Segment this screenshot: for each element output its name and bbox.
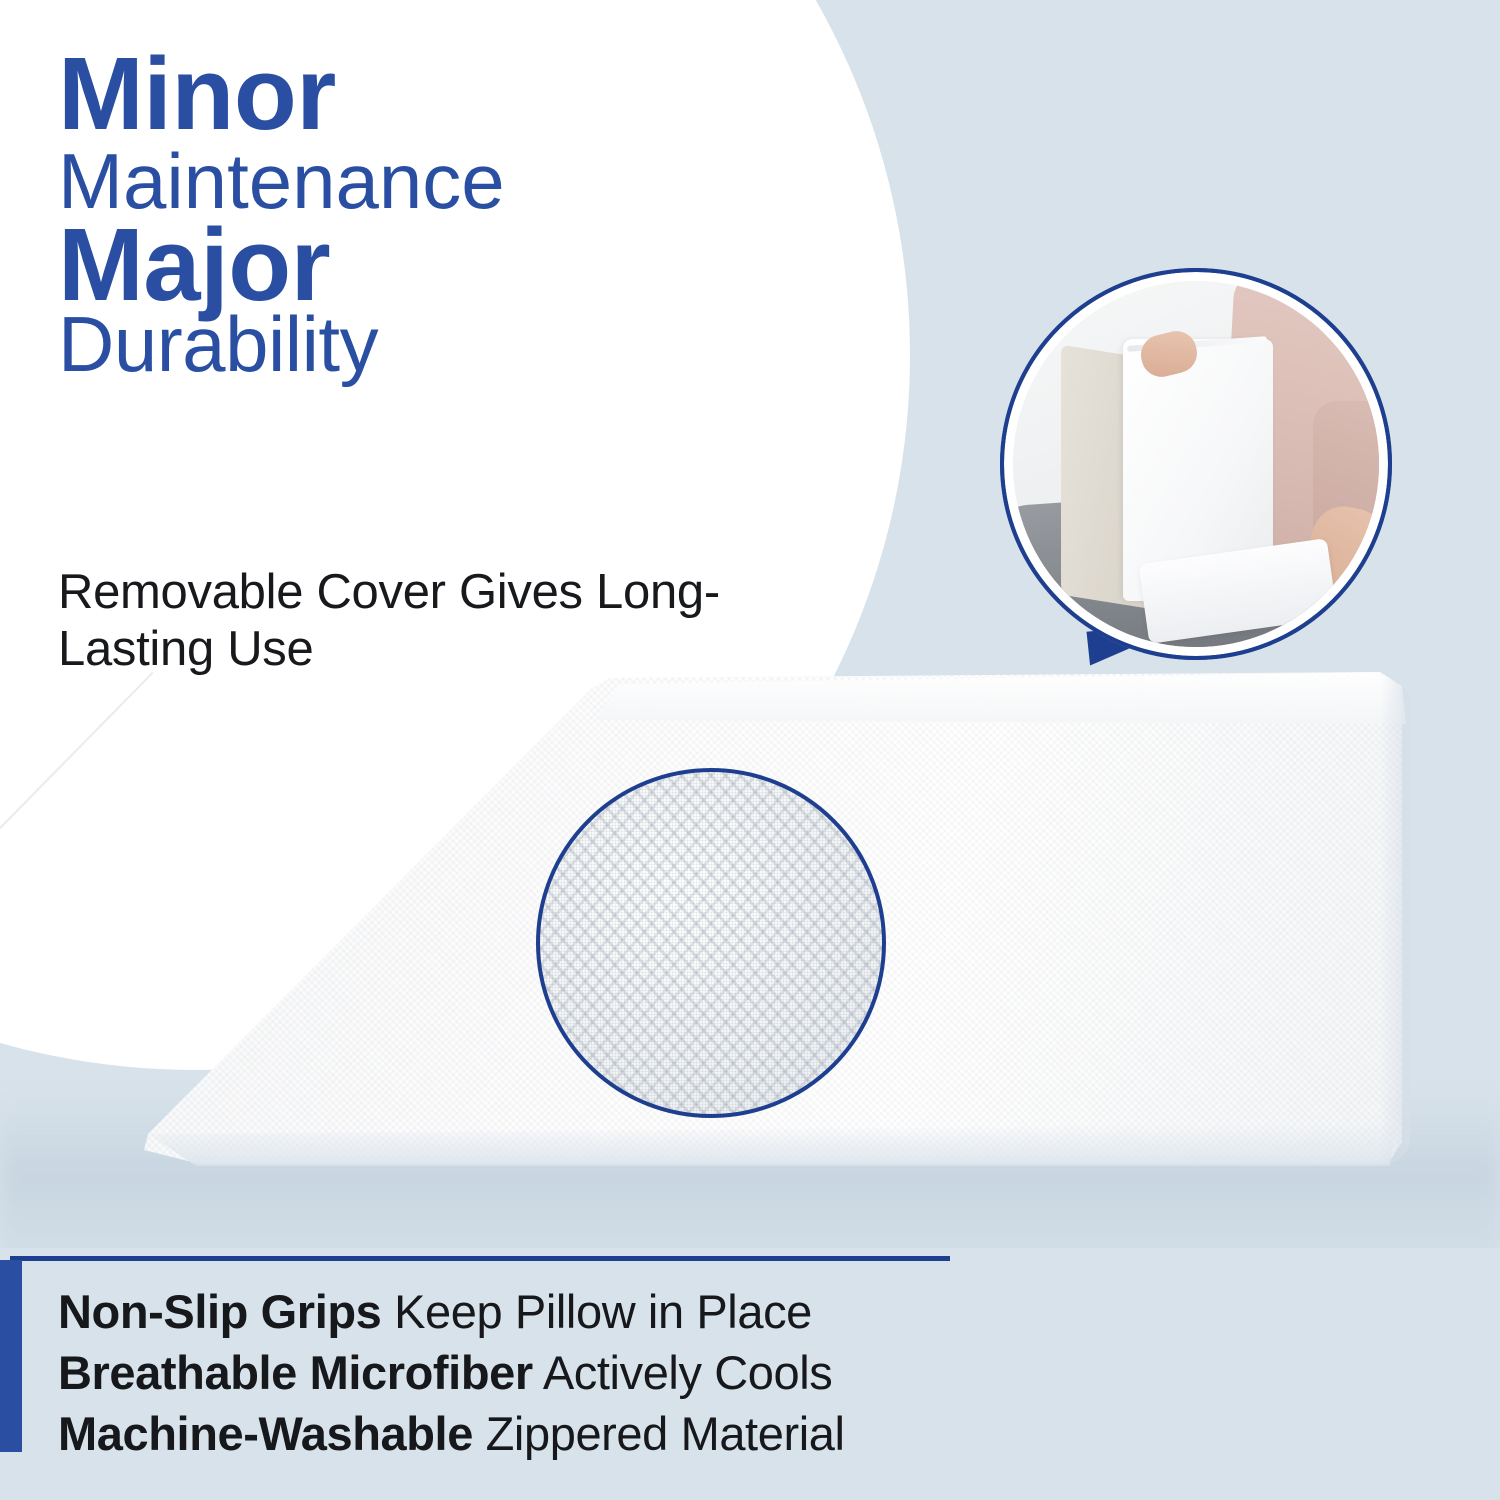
feature-bold-3: Machine-Washable — [58, 1407, 473, 1460]
list-item: Breathable Microfiber Actively Cools — [58, 1342, 1058, 1403]
feature-bold-2: Breathable Microfiber — [58, 1346, 533, 1399]
feature-rest-2: Actively Cools — [533, 1346, 833, 1399]
feature-rest-3: Zippered Material — [473, 1407, 845, 1460]
fabric-texture-callout — [536, 768, 886, 1118]
subheadline: Removable Cover Gives Long-Lasting Use — [58, 564, 738, 678]
removable-cover-demo-photo — [1013, 281, 1379, 647]
headline-line-minor: Minor — [58, 44, 848, 145]
headline-line-durability: Durability — [58, 306, 848, 382]
list-item: Machine-Washable Zippered Material — [58, 1403, 1058, 1464]
feature-bold-1: Non-Slip Grips — [58, 1285, 381, 1338]
divider-vertical-accent — [0, 1260, 22, 1452]
list-item: Non-Slip Grips Keep Pillow in Place — [58, 1281, 1058, 1342]
product-feature-graphic: Minor Maintenance Major Durability Remov… — [0, 0, 1500, 1500]
feature-list: Non-Slip Grips Keep Pillow in Place Brea… — [58, 1281, 1058, 1464]
divider-horizontal — [10, 1256, 950, 1261]
feature-rest-1: Keep Pillow in Place — [381, 1285, 812, 1338]
headline-block: Minor Maintenance Major Durability — [58, 44, 848, 383]
pillow-right-edge — [1380, 678, 1410, 1164]
inset-photo-callout — [1000, 268, 1392, 660]
